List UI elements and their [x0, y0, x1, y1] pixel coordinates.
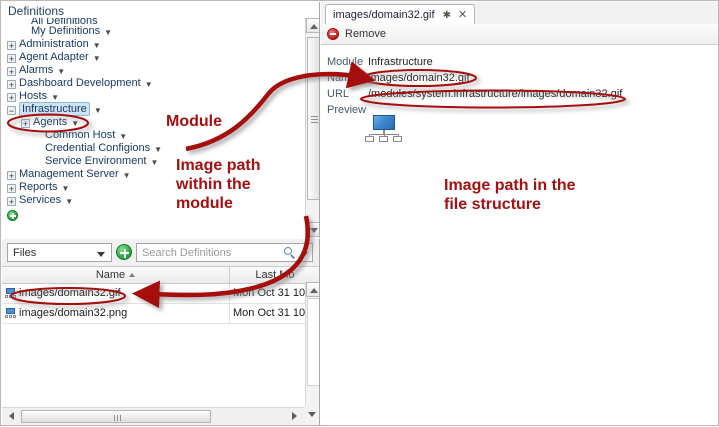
scroll-left-arrow-icon[interactable] — [4, 409, 18, 424]
files-filter-value: Files — [13, 247, 36, 259]
chevron-down-icon[interactable]: ▼ — [154, 143, 162, 156]
files-grid-body: images/domain32.gifMon Oct 31 10:images/… — [2, 284, 320, 324]
tree-item-label: Service Environment — [45, 155, 147, 167]
table-row[interactable]: images/domain32.pngMon Oct 31 10: — [2, 304, 320, 324]
chevron-down-icon[interactable]: ▼ — [65, 195, 73, 208]
tree-item-label: Credential Configions — [45, 142, 150, 154]
scroll-up-arrow-icon[interactable] — [306, 18, 320, 33]
close-icon[interactable]: ✕ — [458, 9, 467, 21]
grid-horizontal-scrollbar[interactable] — [2, 407, 320, 425]
tree-item-label: Common Host — [45, 129, 115, 141]
files-toolbar: Files Search Definitions — [2, 243, 320, 265]
tree-item-label: Agents — [33, 116, 67, 128]
domain-network-monitor-icon — [365, 115, 401, 141]
expand-plus-icon[interactable]: + — [7, 67, 16, 76]
field-value-url[interactable]: /modules/system:infrastructure/images/do… — [368, 87, 622, 102]
scroll-up-arrow-icon[interactable] — [306, 282, 320, 297]
chevron-down-icon[interactable]: ▼ — [145, 78, 153, 91]
expand-plus-icon[interactable]: + — [7, 197, 16, 206]
grid-vertical-scrollbar[interactable] — [305, 282, 320, 406]
tree-item-label: My Definitions — [31, 25, 100, 37]
application-window: Definitions All DefinitionsMy Definition… — [0, 0, 719, 426]
chevron-down-icon[interactable]: ▼ — [93, 52, 101, 65]
annotation-line-1: Image path — [176, 156, 260, 175]
definitions-panel-title: Definitions — [8, 4, 64, 18]
chevron-down-icon[interactable]: ▼ — [151, 156, 159, 169]
tree-item-label: Services — [19, 194, 61, 206]
cell-name-text: images/domain32.gif — [19, 287, 121, 299]
collapse-minus-icon[interactable]: − — [7, 106, 16, 115]
tree-item-dashboard-development[interactable]: +Dashboard Development▼ — [4, 78, 304, 91]
hscrollbar-thumb[interactable] — [21, 410, 211, 423]
tab-images-domain32-gif[interactable]: images/domain32.gif ✱ ✕ — [325, 4, 475, 25]
scrollbar-corner[interactable] — [305, 406, 320, 424]
scroll-right-arrow-icon[interactable] — [288, 409, 302, 424]
add-green-plus-icon[interactable] — [116, 244, 132, 260]
remove-minus-circle-icon — [327, 28, 339, 40]
editor-toolbar: Remove — [321, 24, 718, 45]
search-input[interactable]: Search Definitions — [136, 243, 313, 262]
tree-vertical-scrollbar[interactable] — [305, 18, 320, 237]
tree-item-label: Management Server — [19, 168, 119, 180]
annotation-line-2: within the — [176, 175, 260, 194]
tree-item-label: Alarms — [19, 64, 53, 76]
remove-button[interactable]: Remove — [327, 26, 386, 42]
scroll-down-arrow-icon[interactable] — [306, 222, 320, 237]
chevron-down-icon — [97, 252, 105, 257]
magnifier-icon[interactable] — [284, 247, 296, 259]
files-grid: Name Last Mo images/domain32.gifMon Oct … — [2, 266, 320, 407]
chevron-down-icon[interactable]: ▼ — [94, 104, 102, 117]
image-file-icon — [5, 308, 17, 318]
annotation-line-3: module — [176, 194, 260, 213]
annotation-line-1: Image path in the — [444, 176, 576, 195]
expand-plus-icon[interactable]: + — [7, 184, 16, 193]
annotation-line-2: file structure — [444, 195, 576, 214]
image-file-icon — [5, 288, 17, 298]
search-placeholder: Search Definitions — [142, 247, 231, 259]
expand-plus-icon[interactable]: + — [7, 93, 16, 102]
tree-item-label: Hosts — [19, 90, 47, 102]
expand-plus-icon[interactable]: + — [7, 41, 16, 50]
sort-ascending-icon — [129, 273, 135, 277]
tab-label: images/domain32.gif — [333, 9, 435, 21]
tree-scrollbar-thumb[interactable] — [307, 37, 320, 200]
chevron-down-icon[interactable]: ▼ — [62, 182, 70, 195]
expand-plus-icon[interactable]: + — [21, 119, 30, 128]
field-value-name[interactable]: images/domain32.gif — [368, 71, 470, 86]
chevron-down-icon[interactable]: ▼ — [123, 169, 131, 182]
grid-scrollbar-thumb[interactable] — [307, 298, 320, 386]
editor-form: Module Infrastructure Name images/domain… — [321, 45, 718, 425]
cell-name: images/domain32.gif — [2, 284, 230, 303]
column-header-last-modified[interactable]: Last Mo — [230, 267, 320, 283]
files-panel: Files Search Definitions Name Last Mo im… — [2, 239, 320, 425]
tree-item-label: Agent Adapter — [19, 51, 89, 63]
tree-item-label: Infrastructure — [19, 102, 90, 116]
remove-button-label: Remove — [345, 28, 386, 40]
annotation-label-module: Module — [166, 112, 222, 131]
expand-plus-icon[interactable]: + — [7, 171, 16, 180]
tree-item-label: Administration — [19, 38, 89, 50]
tree-item-label: Dashboard Development — [19, 77, 141, 89]
chevron-down-icon[interactable]: ▼ — [93, 39, 101, 52]
annotation-label-within-module: Image path within the module — [176, 156, 260, 213]
definitions-tree-panel: Definitions All DefinitionsMy Definition… — [2, 2, 320, 238]
expand-plus-icon[interactable]: + — [7, 80, 16, 89]
annotation-label-file-structure: Image path in the file structure — [444, 176, 576, 214]
plus-circle-icon[interactable] — [7, 210, 18, 221]
scroll-down-arrow-icon[interactable] — [308, 412, 316, 417]
pin-icon[interactable]: ✱ — [443, 10, 451, 21]
chevron-down-icon[interactable] — [302, 252, 308, 256]
table-row[interactable]: images/domain32.gifMon Oct 31 10: — [2, 284, 320, 304]
chevron-down-icon[interactable]: ▼ — [104, 26, 112, 39]
files-grid-header: Name Last Mo — [2, 267, 320, 284]
files-filter-select[interactable]: Files — [7, 243, 112, 262]
expand-plus-icon[interactable]: + — [7, 54, 16, 63]
column-header-name[interactable]: Name — [2, 267, 230, 283]
editor-tabstrip: images/domain32.gif ✱ ✕ — [321, 2, 718, 25]
field-value-module: Infrastructure — [368, 55, 433, 70]
cell-name: images/domain32.png — [2, 304, 230, 323]
cell-name-text: images/domain32.png — [19, 307, 127, 319]
tree-item-label: Reports — [19, 181, 58, 193]
